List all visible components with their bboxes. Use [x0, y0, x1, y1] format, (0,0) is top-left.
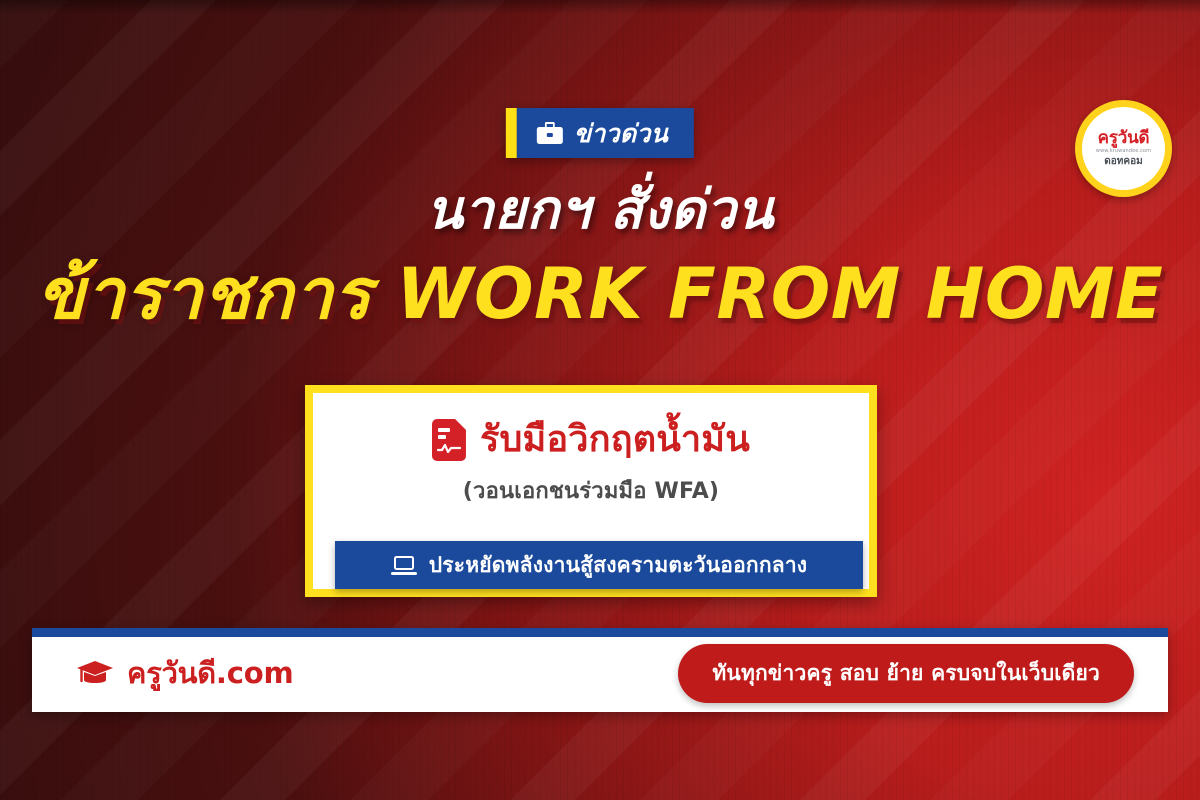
footer-cta-pill[interactable]: ทันทุกข่าวครู สอบ ย้าย ครบจบในเว็บเดียว: [678, 644, 1134, 703]
graduation-cap-icon: [76, 659, 114, 688]
footer-brand[interactable]: ครูวันดี.com: [76, 650, 293, 696]
logo-inner-disc: ครูวันดี www.kruwandee.com ดอทคอม: [1082, 107, 1165, 190]
footer-brand-text: ครูวันดี.com: [127, 650, 293, 696]
document-chart-icon: [432, 419, 466, 461]
breaking-news-badge[interactable]: ข่าวด่วน: [506, 108, 694, 158]
info-card: รับมือวิกฤตน้ำมัน (วอนเอกชนร่วมมือ WFA) …: [305, 385, 877, 597]
headline-line-1: นายกฯ สั่งด่วน: [0, 183, 1200, 237]
energy-saving-bar[interactable]: ประหยัดพลังงานสู้สงครามตะวันออกกลาง: [335, 541, 863, 589]
logo-sub-text: ดอทคอม: [1104, 157, 1142, 167]
footer-top-stripe: [32, 628, 1168, 637]
laptop-icon: [391, 556, 417, 575]
card-title-row: รับมือวิกฤตน้ำมัน: [432, 419, 750, 461]
badge-body: ข่าวด่วน: [517, 108, 694, 158]
headline-line-2: ข้าราชการ WORK FROM HOME: [0, 258, 1200, 332]
badge-accent-bar: [506, 108, 517, 158]
briefcase-icon: [537, 122, 563, 144]
pulse-line-icon: [437, 443, 461, 453]
energy-saving-bar-text: ประหยัดพลังงานสู้สงครามตะวันออกกลาง: [429, 549, 808, 582]
logo-url-text: www.kruwandee.com: [1096, 149, 1151, 154]
logo-main-text: ครูวันดี: [1098, 130, 1150, 147]
footer-bar: ครูวันดี.com ทันทุกข่าวครู สอบ ย้าย ครบจ…: [32, 628, 1168, 712]
badge-label: ข่าวด่วน: [574, 121, 668, 146]
banner-canvas: ข่าวด่วน ครูวันดี www.kruwandee.com ดอทค…: [0, 0, 1200, 800]
card-subtitle: (วอนเอกชนร่วมมือ WFA): [463, 473, 719, 508]
card-title: รับมือวิกฤตน้ำมัน: [480, 420, 750, 460]
